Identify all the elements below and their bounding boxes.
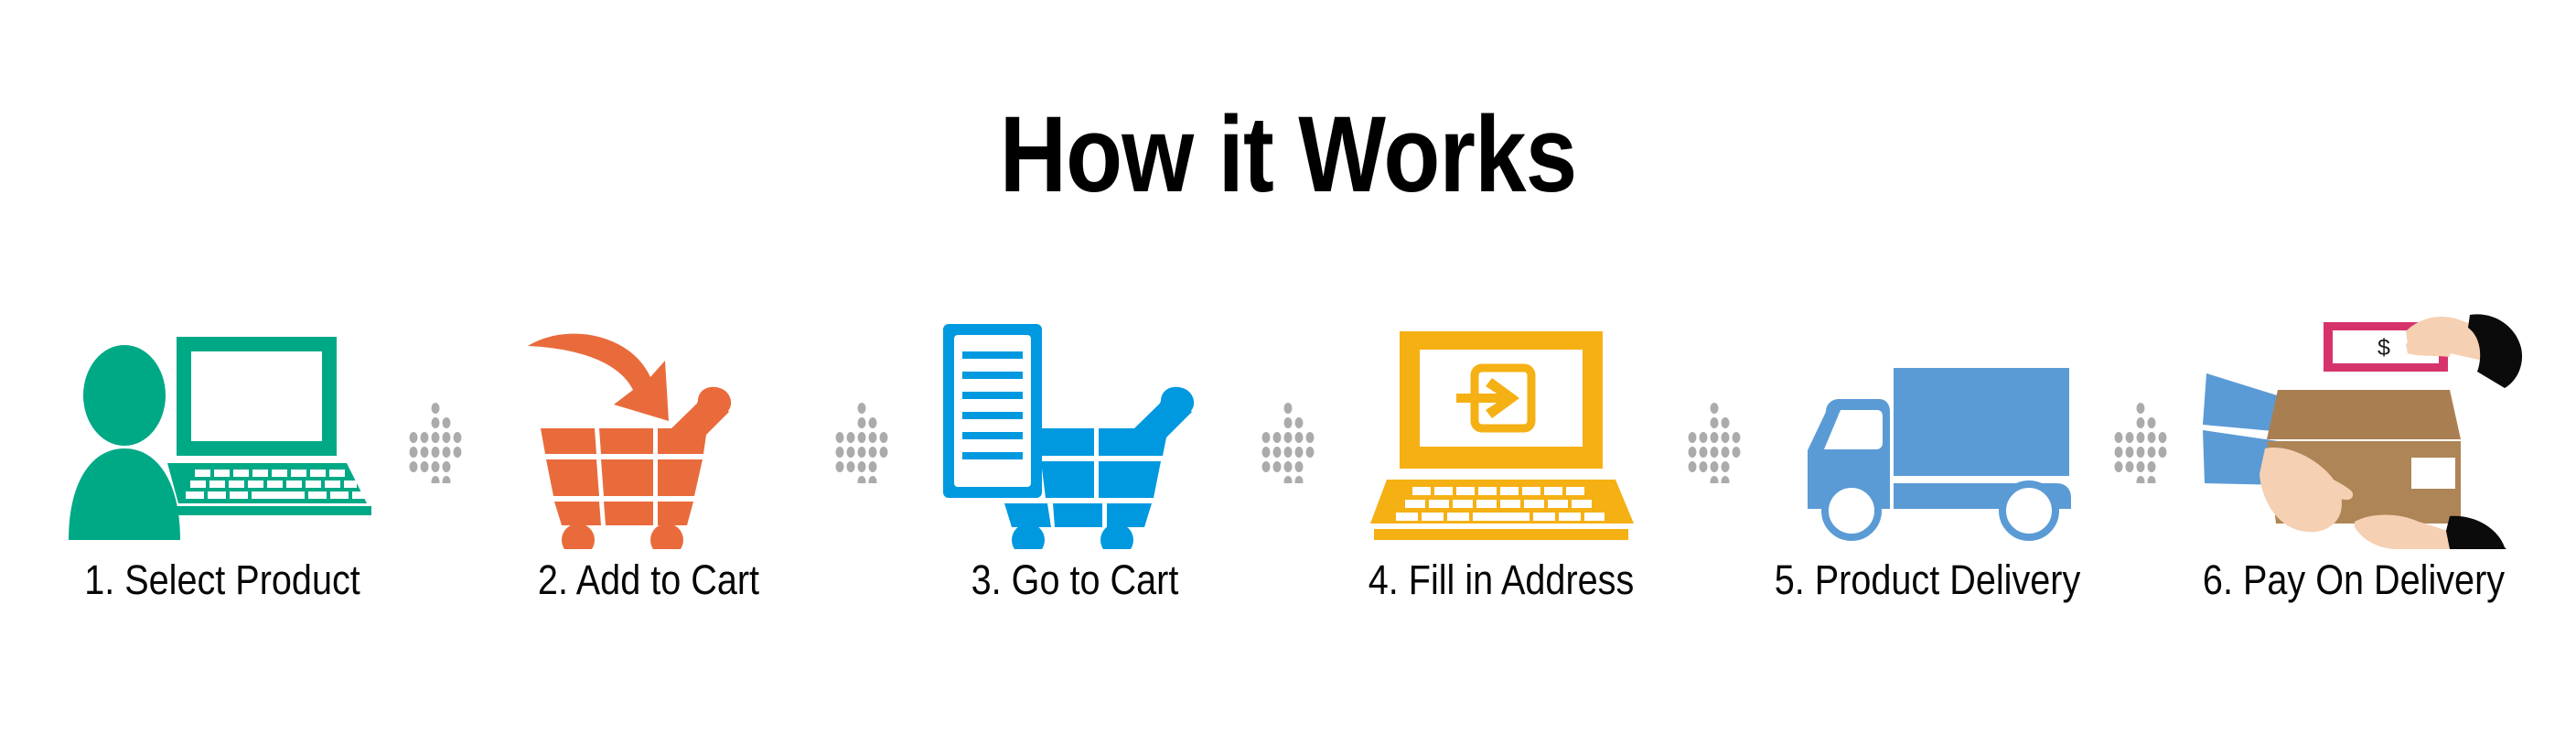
step-4-label: 4. Fill in Address [1332,556,1670,604]
step-1-icon-area [39,302,405,549]
separator-3 [1258,302,1318,668]
person-at-laptop-icon [58,320,387,549]
delivery-truck-icon [1776,348,2078,549]
hands-exchanging-box-and-money-icon: $ [2175,304,2532,549]
dotted-arrow-right-icon [1686,401,1743,483]
step-5-product-delivery[interactable]: 5. Product Delivery [1744,302,2110,668]
step-2-label: 2. Add to Cart [479,556,818,604]
steps-row: 1. Select Product [0,302,2576,668]
document-and-cart-icon [938,320,1212,549]
separator-1 [405,302,466,668]
step-1-select-product[interactable]: 1. Select Product [39,302,405,668]
separator-5 [2110,302,2171,668]
step-4-fill-in-address[interactable]: 4. Fill in Address [1318,302,1684,668]
step-6-icon-area: $ [2171,302,2537,549]
laptop-login-icon [1359,320,1643,549]
step-3-icon-area [892,302,1258,549]
separator-4 [1684,302,1744,668]
step-3-go-to-cart[interactable]: 3. Go to Cart [892,302,1258,668]
dollar-sign-label: $ [2377,335,2390,361]
step-1-label: 1. Select Product [53,556,392,604]
step-6-pay-on-delivery[interactable]: $ [2171,302,2537,668]
step-2-add-to-cart[interactable]: 2. Add to Cart [466,302,832,668]
shipping-label [2411,458,2455,489]
dotted-arrow-right-icon [2112,401,2169,483]
step-5-label: 5. Product Delivery [1758,556,2097,604]
arrow-into-shopping-cart-icon [511,320,786,549]
step-3-label: 3. Go to Cart [906,556,1244,604]
dotted-arrow-right-icon [833,401,890,483]
step-2-icon-area [466,302,832,549]
dotted-arrow-right-icon [407,401,464,483]
page-title: How it Works [180,99,2396,212]
step-4-icon-area [1318,302,1684,549]
dotted-arrow-right-icon [1260,401,1316,483]
how-it-works-infographic: How it Works [0,0,2576,745]
step-5-icon-area [1744,302,2110,549]
step-6-label: 6. Pay On Delivery [2184,556,2523,604]
separator-2 [832,302,892,668]
